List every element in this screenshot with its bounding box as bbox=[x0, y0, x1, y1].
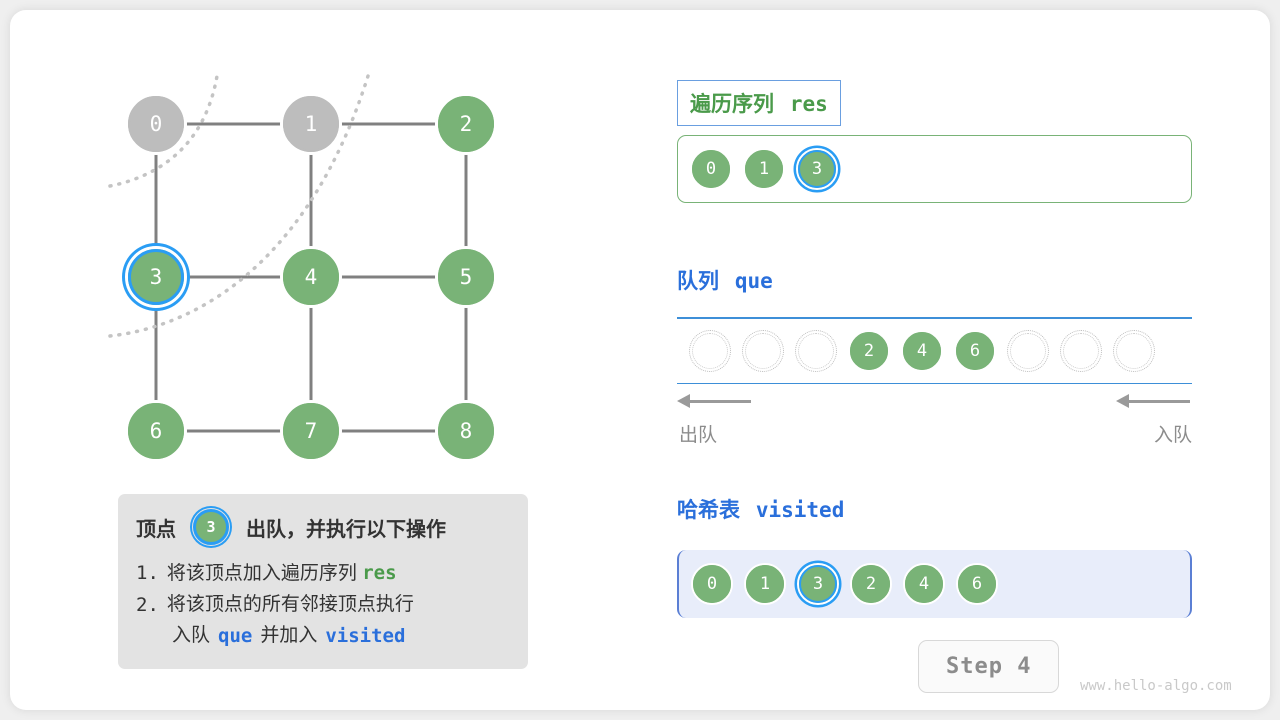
res-title-cn: 遍历序列 bbox=[690, 93, 774, 116]
visited-title-code: visited bbox=[756, 498, 845, 522]
res-title-code: res bbox=[790, 92, 828, 116]
caption-item-2-line2-b: 并加入 bbox=[260, 621, 317, 652]
caption-item-2-text: 将该顶点的所有邻接顶点执行 bbox=[167, 590, 414, 621]
queue-slot-8 bbox=[1113, 330, 1155, 372]
graph-node-8[interactable]: 8 bbox=[435, 400, 497, 462]
queue-bottom-rail bbox=[677, 383, 1192, 385]
caption-vertex-chip: 3 bbox=[192, 508, 230, 546]
screenshot-root: 012345678 顶点 3 出队，并执行以下操作 1. 将该顶点加入遍历序列 … bbox=[0, 0, 1280, 720]
caption-head-suffix: 出队，并执行以下操作 bbox=[246, 513, 446, 542]
caption-item-2-line2-a: 入队 bbox=[172, 621, 210, 652]
graph-node-5[interactable]: 5 bbox=[435, 246, 497, 308]
queue-direction-arrows: 出队 入队 bbox=[677, 394, 1192, 454]
caption-item-2: 2. 将该顶点的所有邻接顶点执行 bbox=[136, 590, 510, 621]
res-item-2: 3 bbox=[796, 148, 838, 190]
caption-item-2-number: 2. bbox=[136, 590, 159, 621]
graph-node-3[interactable]: 3 bbox=[125, 246, 187, 308]
visited-item-1: 1 bbox=[744, 563, 786, 605]
queue-slot-4: 4 bbox=[901, 330, 943, 372]
caption-item-1: 1. 将该顶点加入遍历序列 res bbox=[136, 558, 510, 590]
caption-item-2-code-que: que bbox=[218, 621, 252, 652]
queue-slot-7 bbox=[1060, 330, 1102, 372]
res-section-title: 遍历序列 res bbox=[677, 80, 841, 126]
queue-section-title: 队列 que bbox=[677, 265, 773, 295]
caption-item-2-line2: 入队 que 并加入 visited bbox=[136, 621, 510, 652]
enqueue-label: 入队 bbox=[1154, 420, 1192, 447]
res-sequence-box: 013 bbox=[677, 135, 1192, 203]
res-item-1: 1 bbox=[743, 148, 785, 190]
graph-node-2[interactable]: 2 bbox=[435, 93, 497, 155]
queue-title-code: que bbox=[735, 269, 773, 293]
graph-node-4[interactable]: 4 bbox=[280, 246, 342, 308]
visited-section-title: 哈希表 visited bbox=[677, 494, 844, 524]
caption-item-1-number: 1. bbox=[136, 558, 159, 590]
caption-item-1-code: res bbox=[362, 562, 396, 584]
visited-item-5: 6 bbox=[956, 563, 998, 605]
state-panel: 遍历序列 res 013 队列 que 246 出队 bbox=[665, 10, 1265, 710]
res-item-0: 0 bbox=[690, 148, 732, 190]
visited-set-box: 013246 bbox=[677, 550, 1192, 618]
content-card: 012345678 顶点 3 出队，并执行以下操作 1. 将该顶点加入遍历序列 … bbox=[10, 10, 1270, 710]
graph-diagram: 012345678 bbox=[10, 10, 630, 490]
caption-head-prefix: 顶点 bbox=[136, 513, 176, 542]
queue-title-cn: 队列 bbox=[677, 270, 719, 293]
queue-slot-5: 6 bbox=[954, 330, 996, 372]
queue-slot-6 bbox=[1007, 330, 1049, 372]
dequeue-arrow bbox=[677, 394, 753, 408]
caption-headline: 顶点 3 出队，并执行以下操作 bbox=[136, 508, 510, 546]
caption-box: 顶点 3 出队，并执行以下操作 1. 将该顶点加入遍历序列 res 2. 将该顶… bbox=[118, 494, 528, 669]
visited-item-2: 3 bbox=[797, 563, 839, 605]
graph-node-6[interactable]: 6 bbox=[125, 400, 187, 462]
visited-title-cn: 哈希表 bbox=[677, 499, 740, 522]
queue-box: 246 bbox=[677, 317, 1192, 384]
queue-slot-2 bbox=[795, 330, 837, 372]
visited-item-3: 2 bbox=[850, 563, 892, 605]
caption-item-1-text: 将该顶点加入遍历序列 res bbox=[167, 558, 397, 590]
dequeue-arrow-line bbox=[685, 400, 751, 403]
queue-slot-1 bbox=[742, 330, 784, 372]
queue-slot-3: 2 bbox=[848, 330, 890, 372]
enqueue-arrow-line bbox=[1124, 400, 1190, 403]
visited-item-0: 0 bbox=[691, 563, 733, 605]
graph-node-0[interactable]: 0 bbox=[125, 93, 187, 155]
graph-node-7[interactable]: 7 bbox=[280, 400, 342, 462]
enqueue-arrow bbox=[1116, 394, 1192, 408]
caption-item-1-body: 将该顶点加入遍历序列 bbox=[167, 563, 357, 584]
graph-node-1[interactable]: 1 bbox=[280, 93, 342, 155]
caption-item-2-code-visited: visited bbox=[325, 621, 405, 652]
watermark: www.hello-algo.com bbox=[1080, 678, 1232, 694]
queue-slot-row: 246 bbox=[677, 319, 1192, 383]
queue-slot-0 bbox=[689, 330, 731, 372]
dequeue-label: 出队 bbox=[679, 420, 717, 447]
visited-item-4: 4 bbox=[903, 563, 945, 605]
step-badge: Step 4 bbox=[918, 640, 1059, 693]
